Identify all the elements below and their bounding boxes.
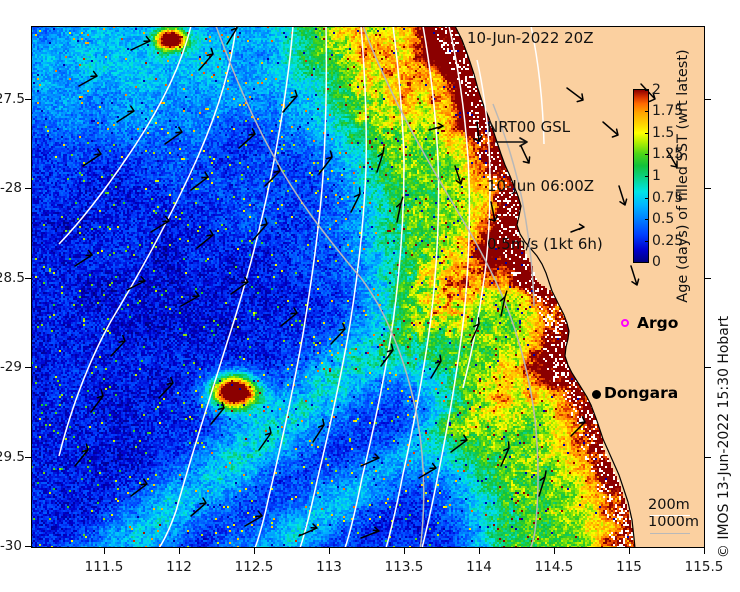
ytick-label: -29.5 bbox=[0, 449, 22, 465]
xtick-label: 114 bbox=[466, 559, 492, 575]
colorbar-label: 1 bbox=[652, 168, 661, 184]
ytick-label: -29 bbox=[0, 359, 22, 375]
xtick-mark bbox=[554, 548, 555, 554]
xtick-mark bbox=[704, 548, 705, 554]
ytick-label: -28 bbox=[0, 180, 22, 196]
product-line-2: 0.5m/s (1kt 6h) bbox=[487, 235, 603, 255]
colorbar-label: 1.5 bbox=[652, 125, 674, 141]
xtick-mark bbox=[629, 548, 630, 554]
colorbar-tick bbox=[645, 198, 649, 199]
ytick-mark bbox=[25, 99, 31, 100]
xtick-label: 111.5 bbox=[85, 559, 124, 575]
colorbar-title: Age (days) of filled SST (wrt latest) bbox=[675, 49, 691, 302]
right-tick-mark bbox=[705, 457, 711, 458]
depth-legend-200m: 200m bbox=[648, 497, 699, 514]
map-overlays bbox=[31, 26, 705, 548]
ytick-mark bbox=[25, 367, 31, 368]
xtick-mark bbox=[329, 548, 330, 554]
ytick-label: -28.5 bbox=[0, 270, 22, 286]
colorbar-tick bbox=[645, 90, 649, 91]
right-tick-mark bbox=[705, 99, 711, 100]
ytick-label: -30 bbox=[0, 538, 22, 554]
right-tick-mark bbox=[705, 278, 711, 279]
colorbar-tick bbox=[645, 154, 649, 155]
argo-label: Argo bbox=[637, 314, 678, 332]
xtick-label: 113.5 bbox=[385, 559, 424, 575]
xtick-label: 112 bbox=[166, 559, 192, 575]
dongara-label: Dongara bbox=[604, 384, 678, 402]
depth-rule-1000m bbox=[650, 533, 690, 534]
colorbar-tick bbox=[645, 133, 649, 134]
depth-scale-legend: 200m 1000m bbox=[648, 497, 699, 531]
ytick-mark bbox=[25, 188, 31, 189]
colorbar-label: 0.5 bbox=[652, 211, 674, 227]
dongara-marker-icon[interactable] bbox=[592, 390, 601, 399]
right-tick-mark bbox=[705, 367, 711, 368]
credit-text: © IMOS 13-Jun-2022 15:30 Hobart bbox=[716, 316, 732, 558]
timestamp-label: 10-Jun-2022 20Z bbox=[467, 29, 594, 47]
argo-marker-icon[interactable] bbox=[621, 319, 629, 327]
xtick-label: 114.5 bbox=[535, 559, 574, 575]
ocean-current-figure: 10-Jun-2022 20Z NRT00 GSL 10-Jun 06:00Z … bbox=[0, 0, 740, 592]
xtick-mark bbox=[254, 548, 255, 554]
xtick-mark bbox=[179, 548, 180, 554]
colorbar-tick bbox=[645, 241, 649, 242]
depth-legend-1000m: 1000m bbox=[648, 514, 699, 531]
ytick-mark bbox=[25, 278, 31, 279]
ytick-mark bbox=[25, 546, 31, 547]
right-tick-mark bbox=[705, 188, 711, 189]
colorbar-tick bbox=[645, 219, 649, 220]
ytick-mark bbox=[25, 457, 31, 458]
xtick-label: 115 bbox=[616, 559, 642, 575]
xtick-mark bbox=[404, 548, 405, 554]
depth-rule-200m bbox=[650, 515, 690, 516]
xtick-label: 112.5 bbox=[235, 559, 274, 575]
colorbar-tick bbox=[645, 262, 649, 263]
colorbar-label: 0 bbox=[652, 254, 661, 270]
colorbar-label: 2 bbox=[652, 82, 661, 98]
product-line-1: 10-Jun 06:00Z bbox=[487, 177, 603, 197]
product-info-block: NRT00 GSL 10-Jun 06:00Z 0.5m/s (1kt 6h) bbox=[487, 79, 603, 294]
xtick-label: 113 bbox=[316, 559, 342, 575]
colorbar-tick bbox=[645, 111, 649, 112]
xtick-mark bbox=[104, 548, 105, 554]
colorbar-tick bbox=[645, 176, 649, 177]
map-plot-area[interactable] bbox=[31, 26, 705, 548]
xtick-label: 115.5 bbox=[685, 559, 724, 575]
ytick-label: -27.5 bbox=[0, 91, 22, 107]
xtick-mark bbox=[479, 548, 480, 554]
right-arrow-icon bbox=[495, 135, 537, 149]
